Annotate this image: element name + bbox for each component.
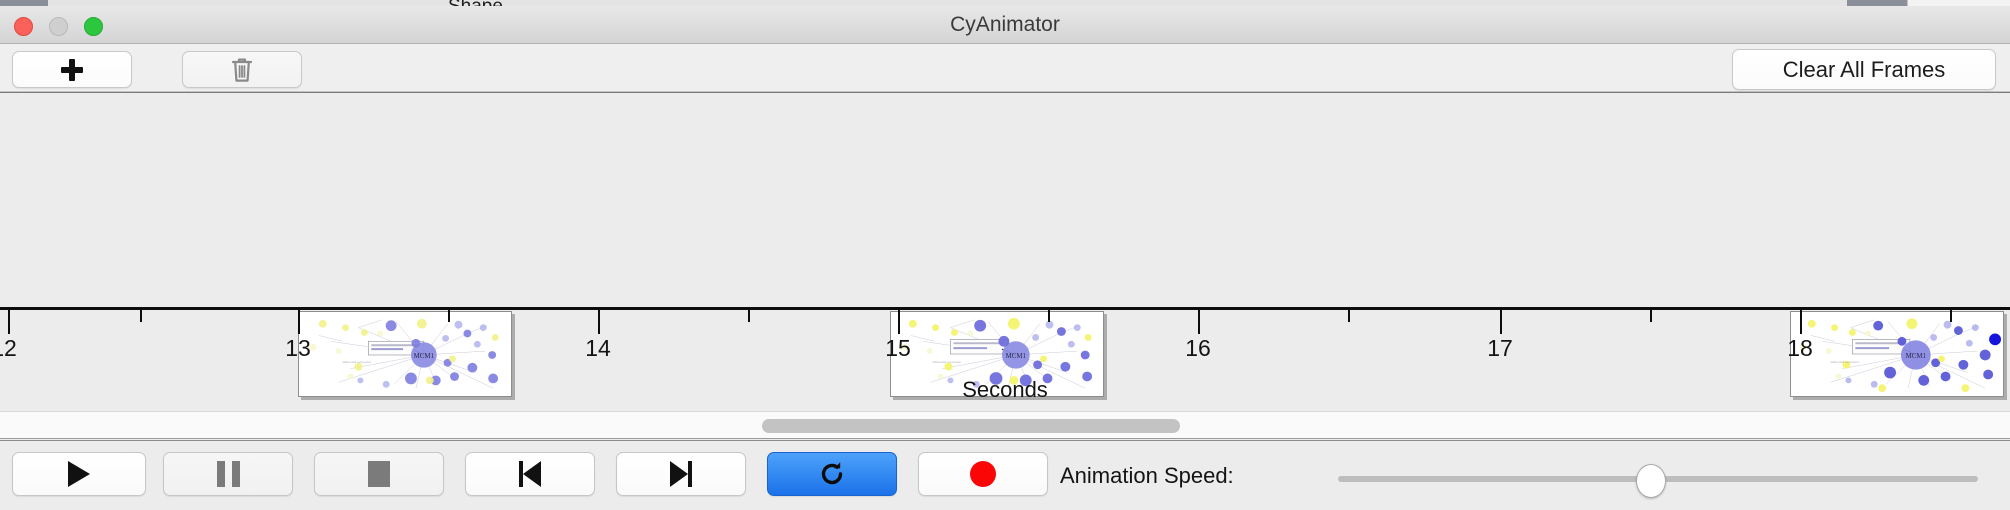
axis-tick-major [1500,310,1502,334]
play-button[interactable] [12,452,146,496]
play-icon [68,461,90,487]
axis-tick-major [598,310,600,334]
toolbar: Clear All Frames [0,44,2010,92]
axis-tick-minor [1950,310,1952,322]
axis-tick-major [1198,310,1200,334]
scrollbar-thumb[interactable] [762,419,1180,433]
delete-frame-button[interactable] [182,51,302,88]
loop-button[interactable] [767,452,897,496]
svg-text:MCM1: MCM1 [1006,353,1027,360]
window-title: CyAnimator [0,6,2010,44]
plus-icon [61,59,83,81]
cyanimator-window: Shape CyAnimator Clear All Frames [0,0,2010,510]
stop-icon [368,461,390,487]
title-bar: CyAnimator [0,6,2010,44]
axis-tick-label: 14 [585,335,611,362]
axis-tick-label: 13 [285,335,311,362]
timeline-panel[interactable]: MCM1 [0,92,2010,411]
svg-text:differential expression: differential expression [1831,360,1860,364]
add-frame-button[interactable] [12,51,132,88]
record-button[interactable] [918,452,1048,496]
axis-tick-minor [140,310,142,322]
skip-back-icon [517,461,543,487]
clear-all-frames-button[interactable]: Clear All Frames [1732,49,1996,90]
axis-tick-major [8,310,10,334]
axis-tick-major [1800,310,1802,334]
record-icon [970,461,996,487]
axis-tick-minor [1048,310,1050,322]
axis-tick-label: 17 [1487,335,1513,362]
pause-icon [217,461,240,487]
axis-tick-label: 12 [0,335,17,362]
axis-tick-minor [1348,310,1350,322]
trash-icon [230,56,254,84]
timeline-axis [0,307,2010,310]
pause-button[interactable] [163,452,293,496]
svg-text:differential expression: differential expression [933,360,962,364]
svg-text:differential expression: differential expression [343,360,372,364]
axis-tick-label: 18 [1787,335,1813,362]
axis-tick-label: 15 [885,335,911,362]
axis-tick-minor [448,310,450,322]
stop-button[interactable] [314,452,444,496]
axis-tick-minor [1650,310,1652,322]
animation-speed-slider-thumb[interactable] [1636,464,1666,498]
skip-forward-icon [668,461,694,487]
axis-tick-major [898,310,900,334]
skip-forward-button[interactable] [616,452,746,496]
animation-speed-label: Animation Speed: [1060,463,1234,489]
timeline-scrollbar[interactable] [0,411,2010,439]
axis-tick-label: 16 [1185,335,1211,362]
loop-icon [817,459,847,489]
clear-all-frames-label: Clear All Frames [1783,57,1946,83]
skip-back-button[interactable] [465,452,595,496]
axis-title: Seconds [0,377,2010,403]
svg-text:MCM1: MCM1 [414,353,435,360]
axis-tick-major [298,310,300,334]
axis-tick-minor [748,310,750,322]
svg-text:MCM1: MCM1 [1906,353,1927,360]
playback-toolbar: Animation Speed: [0,440,2010,510]
